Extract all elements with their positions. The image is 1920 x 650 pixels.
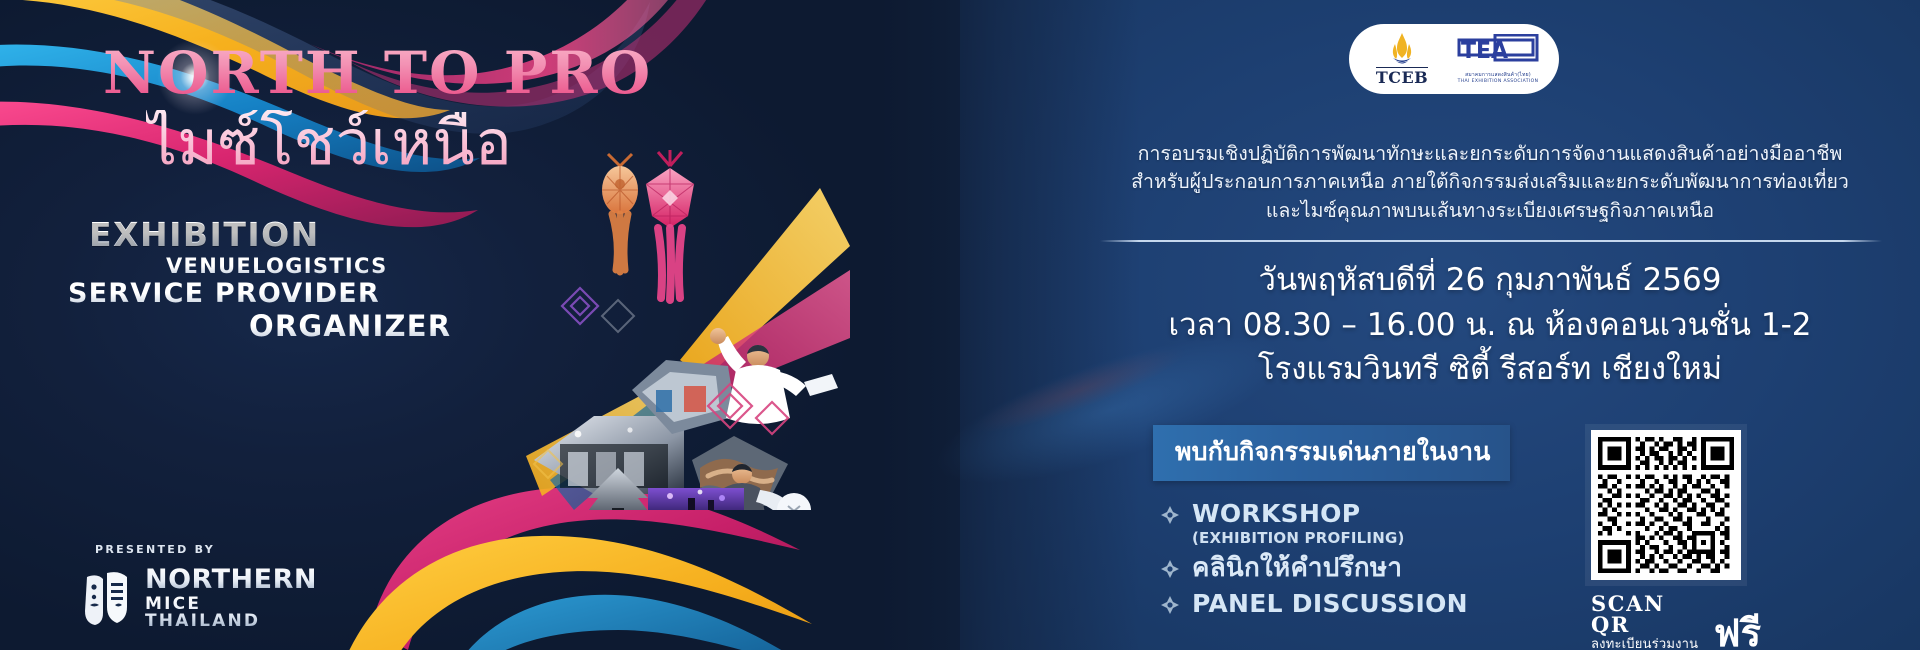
tea-icon: TEA	[1457, 34, 1539, 70]
tceb-flame-icon	[1387, 32, 1417, 66]
agenda-title-2: คลินิกให้คำปรึกษา	[1192, 554, 1402, 583]
tea-sub-english: THAI EXHIBITION ASSOCIATION	[1458, 79, 1539, 84]
presented-by-block: PRESENTED BY NORTHERN MICE THAILAND	[83, 543, 313, 630]
event-venue: โรงแรมวินทรี ซิตี้ รีสอร์ท เชียงใหม่	[1090, 347, 1890, 392]
event-schedule: วันพฤหัสบดีที่ 26 กุมภาพันธ์ 2569 เวลา 0…	[1090, 258, 1890, 392]
agenda-list: WORKSHOP (EXHIBITION PROFILING) คลินิกให…	[1160, 500, 1590, 625]
lanna-mice-collage	[520, 150, 850, 510]
scan-qr-label: SCAN QR	[1591, 593, 1705, 635]
agenda-subtitle-1: (EXHIBITION PROFILING)	[1192, 529, 1405, 547]
register-label: ลงทะเบียนร่วมงาน	[1591, 638, 1705, 650]
keyword-logistics: LOGISTICS	[252, 254, 387, 278]
svg-text:TEA: TEA	[1461, 39, 1508, 64]
agenda-title-3: PANEL DISCUSSION	[1192, 590, 1468, 618]
section-divider	[1100, 240, 1882, 242]
description-line-1: การอบรมเชิงปฏิบัติการพัฒนาทักษะและยกระดั…	[1090, 140, 1890, 168]
service-keywords: EXHIBITION VENUELOGISTICS SERVICE PROVID…	[60, 215, 480, 343]
logo-line-northern: NORTHERN	[145, 566, 317, 593]
agenda-title-1: WORKSHOP	[1192, 500, 1405, 528]
keyword-exhibition: EXHIBITION	[89, 215, 320, 254]
tea-logo: TEA สมาคมการแสดงสินค้า(ไทย) THAI EXHIBIT…	[1457, 34, 1539, 84]
qr-registration-block[interactable]: SCAN QR ลงทะเบียนร่วมงาน ฟรี	[1591, 430, 1761, 650]
diamond-bullet-icon	[1160, 595, 1180, 615]
qr-code[interactable]	[1598, 437, 1734, 573]
keyword-organizer: ORGANIZER	[249, 309, 451, 343]
northern-mice-thailand-mark	[83, 571, 136, 625]
free-label: ฟรี	[1714, 616, 1761, 650]
event-description: การอบรมเชิงปฏิบัติการพัฒนาทักษะและยกระดั…	[1090, 140, 1890, 225]
page-title-th: ไมซ์โชว์เหนือ	[146, 110, 512, 175]
tceb-wordmark: TCEB	[1376, 67, 1428, 87]
list-item: WORKSHOP (EXHIBITION PROFILING)	[1160, 500, 1590, 547]
keyword-venue: VENUE	[166, 254, 252, 278]
qr-caption: SCAN QR ลงทะเบียนร่วมงาน ฟรี	[1591, 593, 1761, 650]
diamond-bullet-icon	[1160, 559, 1180, 579]
highlight-banner: พบกับกิจกรรมเด่นภายในงาน	[1153, 425, 1510, 481]
qr-code-frame	[1591, 430, 1741, 580]
list-item: PANEL DISCUSSION	[1160, 590, 1590, 618]
description-line-3: และไมซ์คุณภาพบนเส้นทางระเบียงเศรษฐกิจภาค…	[1090, 197, 1890, 225]
list-item: คลินิกให้คำปรึกษา	[1160, 554, 1590, 583]
keyword-service-provider: SERVICE PROVIDER	[68, 278, 380, 309]
event-time-room: เวลา 08.30 – 16.00 น. ณ ห้องคอนเวนชั่น 1…	[1090, 303, 1890, 348]
tceb-logo: TCEB	[1369, 32, 1435, 87]
description-line-2: สำหรับผู้ประกอบการภาคเหนือ ภายใต้กิจกรรม…	[1090, 168, 1890, 196]
tea-sub-thai: สมาคมการแสดงสินค้า(ไทย)	[1465, 71, 1531, 79]
diamond-bullet-icon	[1160, 505, 1180, 525]
event-banner: NORTH TO PRO ไมซ์โชว์เหนือ EXHIBITION VE…	[0, 0, 1920, 650]
northern-mice-thailand-logo: NORTHERN MICE THAILAND	[83, 566, 313, 630]
presented-by-label: PRESENTED BY	[95, 543, 313, 556]
logo-line-mice-thailand: MICE THAILAND	[145, 596, 317, 630]
page-title-en: NORTH TO PRO	[103, 44, 652, 102]
event-date: วันพฤหัสบดีที่ 26 กุมภาพันธ์ 2569	[1090, 258, 1890, 303]
highlight-banner-label: พบกับกิจกรรมเด่นภายในงาน	[1175, 437, 1490, 466]
partner-logos: TCEB TEA สมาคมการแสดงสินค้า(ไทย) THAI EX…	[1349, 24, 1559, 94]
